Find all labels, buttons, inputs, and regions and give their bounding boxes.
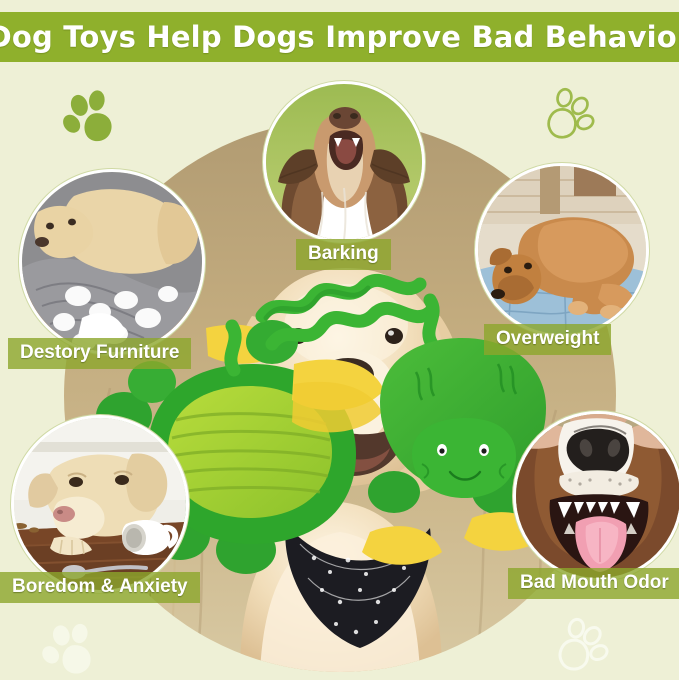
paw-print-icon [552, 616, 612, 676]
label-boredom-anxiety: Boredom & Anxiety [0, 572, 200, 603]
label-destroy-furniture: Destory Furniture [8, 338, 191, 369]
node-destroy-furniture[interactable] [22, 172, 202, 352]
node-boredom-anxiety[interactable] [14, 418, 186, 590]
label-barking: Barking [296, 239, 391, 270]
label-bad-mouth-odor: Bad Mouth Odor [508, 568, 679, 599]
page-title: Dog Toys Help Dogs Improve Bad Behavior [0, 20, 679, 54]
paw-print-icon [60, 86, 122, 148]
header-banner: Dog Toys Help Dogs Improve Bad Behavior [0, 12, 679, 62]
node-barking[interactable] [266, 84, 422, 240]
infographic-stage: Dog Toys Help Dogs Improve Bad Behavior … [0, 0, 679, 679]
label-overweight: Overweight [484, 324, 611, 355]
paw-print-icon [540, 86, 598, 144]
node-overweight[interactable] [478, 166, 646, 334]
node-bad-mouth-odor[interactable] [516, 414, 679, 578]
paw-print-icon [40, 618, 102, 680]
